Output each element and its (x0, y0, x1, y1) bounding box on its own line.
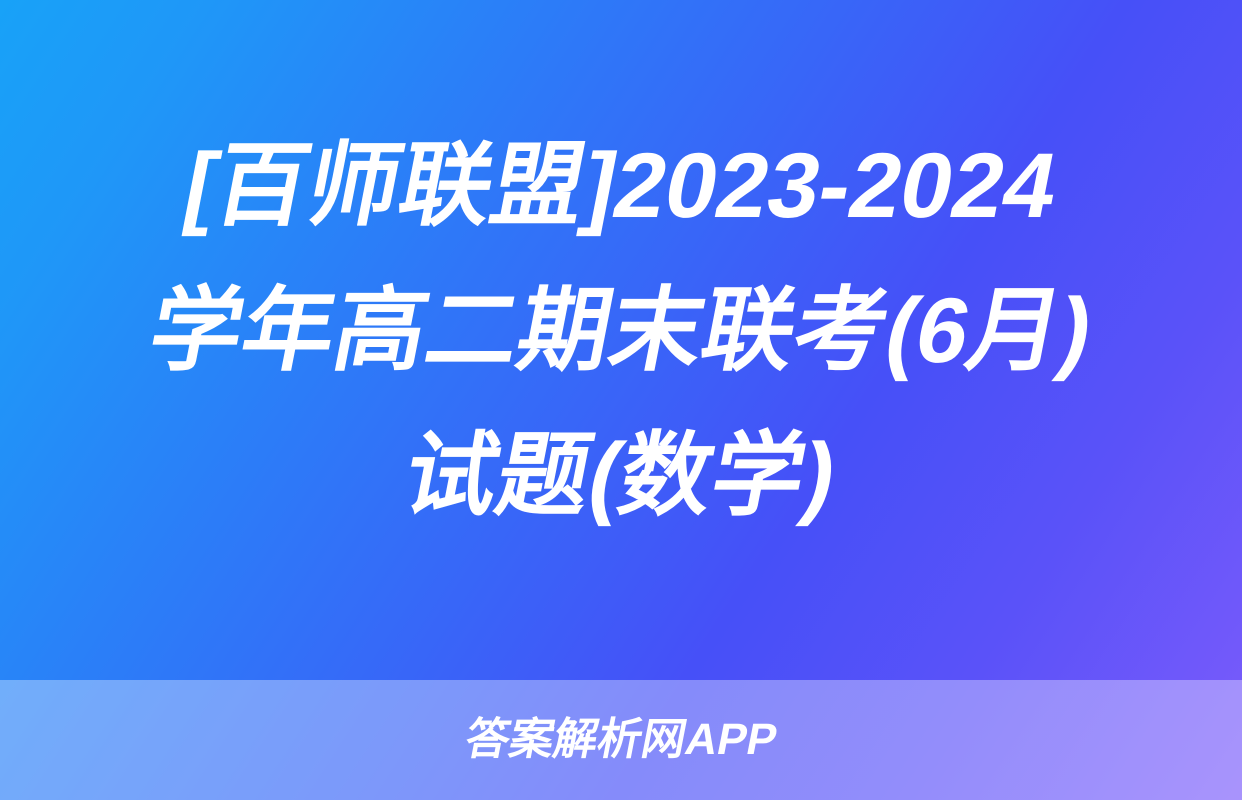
exam-title-card: [百师联盟]2023-2024 学年高二期末联考(6月) 试题(数学) 答案解析… (0, 0, 1242, 800)
app-watermark-label: 答案解析网APP (461, 716, 781, 764)
title-line-2: 学年高二期末联考(6月) (137, 259, 1106, 404)
title-line-3: 试题(数学) (392, 404, 849, 549)
title-block: [百师联盟]2023-2024 学年高二期末联考(6月) 试题(数学) (0, 0, 1242, 680)
footer-watermark-band: 答案解析网APP (0, 680, 1242, 800)
title-line-1: [百师联盟]2023-2024 (172, 114, 1069, 259)
